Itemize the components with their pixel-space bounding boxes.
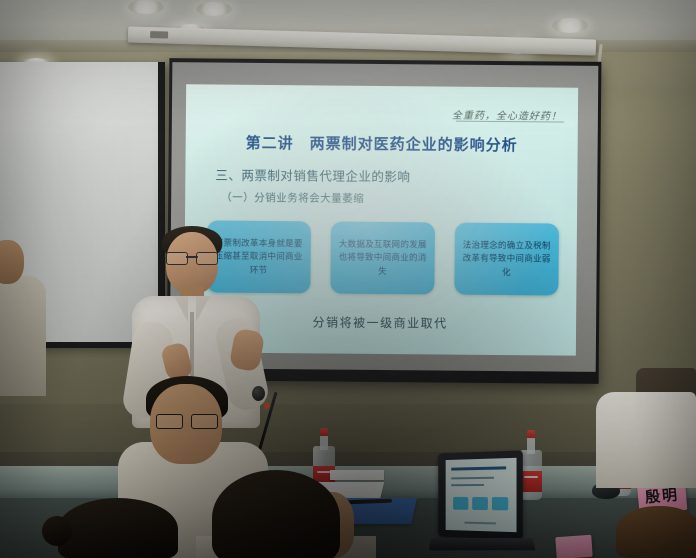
laptop-slide-line [451, 484, 484, 486]
laptop-slide-title-bar [451, 466, 506, 470]
microphone-indicator-light [265, 404, 269, 408]
presenter-collar-right [196, 296, 210, 322]
laptop-keyboard-base[interactable] [429, 538, 536, 550]
laptop-display [446, 458, 517, 532]
presenter-glasses [166, 252, 218, 263]
laptop-slide-footer [464, 522, 495, 525]
audience-hair-front [212, 470, 340, 558]
slide-section-heading: 三、两票制对销售代理企业的影响 [215, 165, 410, 186]
laptop-slide-box [453, 497, 468, 510]
laptop[interactable] [430, 452, 534, 558]
audience-hair-bun [42, 516, 72, 546]
laptop-lid [438, 450, 523, 539]
papers [330, 470, 384, 480]
slide-box-text: 大数据及互联网的发展也将导致中间商业的消失 [337, 238, 429, 278]
slogan-underline [456, 121, 564, 123]
slide-title: 第二讲 两票制对医药企业的影响分析 [186, 131, 578, 155]
downlight [128, 0, 164, 14]
slide-box-text: 法治理念的确立及税制改革有导致中间商业弱化 [461, 239, 553, 279]
presenter-collar-left [174, 296, 188, 322]
microphone-head [252, 386, 265, 401]
slide-box: 大数据及互联网的发展也将导致中间商业的消失 [330, 222, 435, 295]
downlight [552, 18, 588, 33]
slide-subsection: （一）分销业务将会大量萎缩 [221, 190, 364, 206]
audience-hair-right-front [616, 506, 696, 558]
audience-hair-front-left [58, 498, 178, 558]
laptop-slide-line [451, 477, 494, 480]
laptop-slide-box [492, 497, 508, 510]
name-card-secondary [555, 535, 592, 558]
audience-member-left-edge [0, 276, 46, 396]
audience-member-right [596, 392, 696, 488]
housing-logo [150, 31, 168, 38]
conference-room-photo: 全重药，全心造好药！ 第二讲 两票制对医药企业的影响分析 三、两票制对销售代理企… [0, 0, 696, 558]
audience-glasses [156, 414, 218, 427]
slide-box: 法治理念的确立及税制改革有导致中间商业弱化 [454, 223, 559, 296]
downlight [196, 2, 232, 16]
laptop-slide-box [472, 497, 488, 510]
